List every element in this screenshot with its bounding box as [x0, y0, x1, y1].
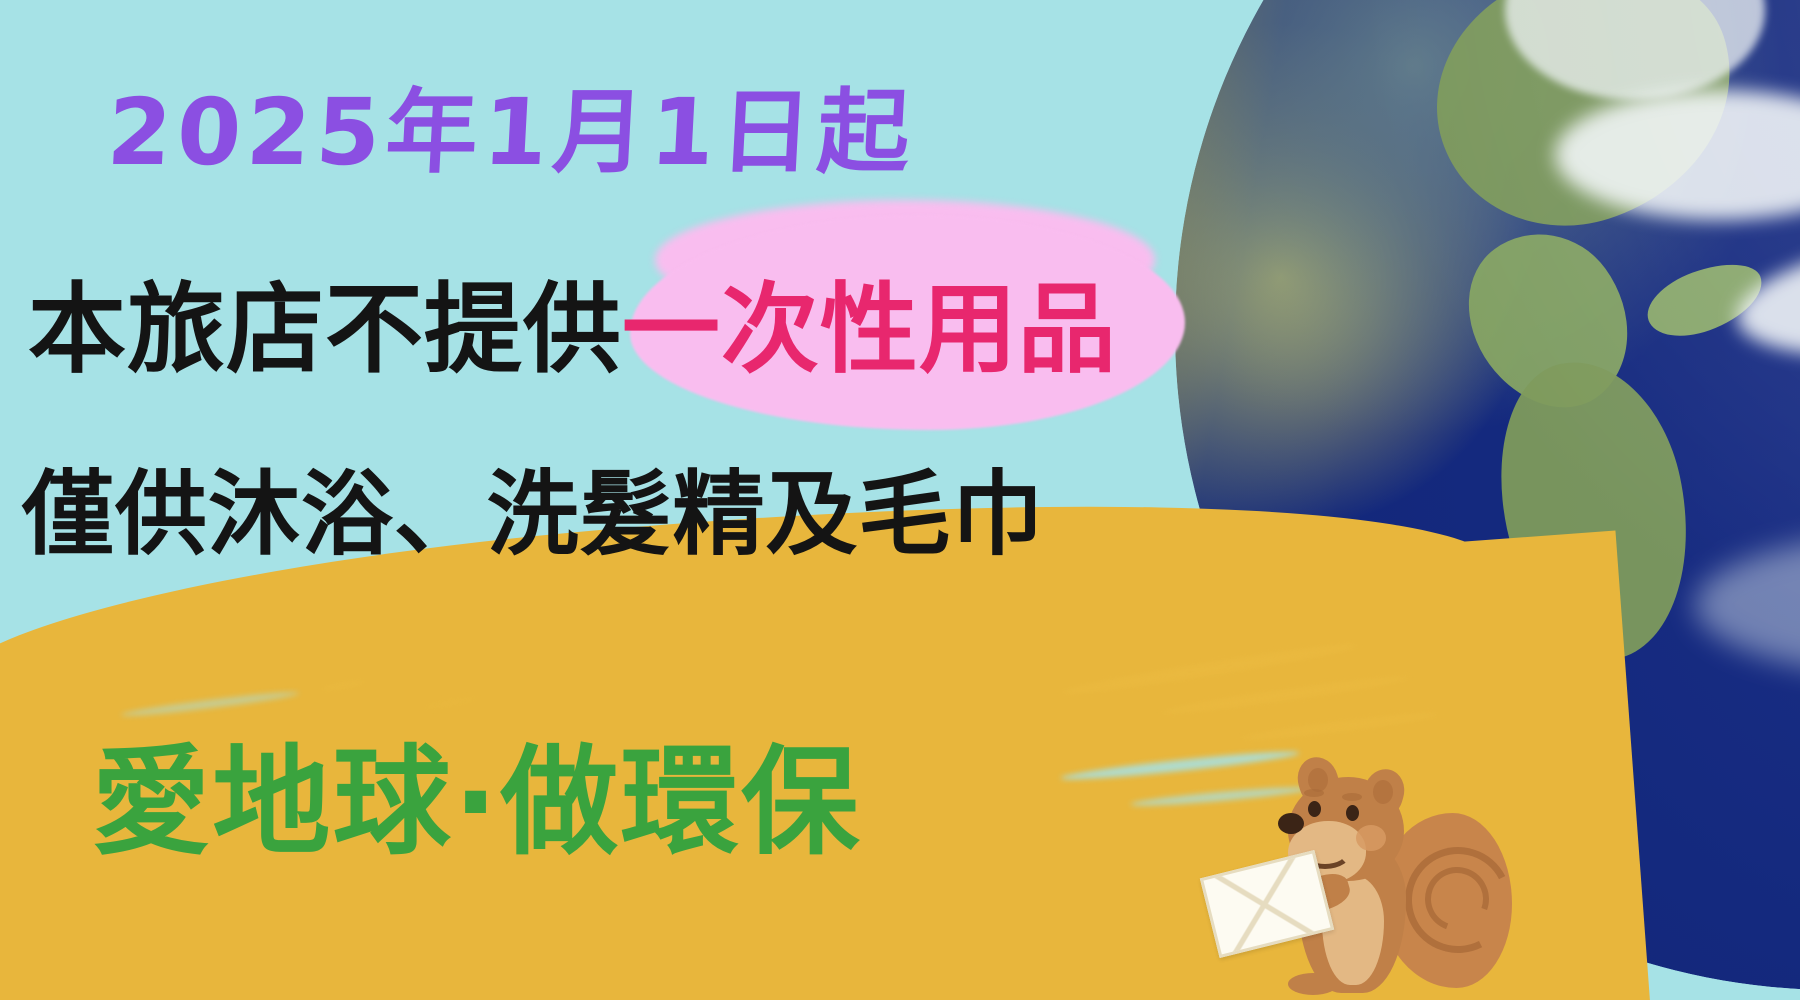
notice-main-prefix: 本旅店不提供 [28, 273, 622, 387]
squirrel-brow-left [1304, 789, 1324, 797]
eco-slogan: 愛地球·做環保 [92, 706, 861, 877]
squirrel-brow-right [1342, 793, 1362, 801]
squirrel-nose [1278, 813, 1304, 834]
notice-main-highlight: 一次性用品 [622, 273, 1117, 387]
eco-notice-poster: 2025年1月1日起 本旅店不提供一次性用品 僅供沐浴、洗髮精及毛巾 愛地球·做… [0, 0, 1800, 1000]
squirrel-eye-left [1308, 801, 1321, 817]
notice-main-line: 本旅店不提供一次性用品 [28, 250, 1117, 392]
notice-sub-line: 僅供沐浴、洗髮精及毛巾 [22, 440, 1044, 573]
effective-date-line: 2025年1月1日起 [105, 58, 919, 191]
squirrel-eye-right [1346, 805, 1359, 821]
squirrel-ear-inner-right [1373, 780, 1393, 804]
squirrel-cheek [1356, 825, 1386, 851]
squirrel-mascot [1270, 755, 1550, 1000]
squirrel-foot [1288, 973, 1338, 995]
